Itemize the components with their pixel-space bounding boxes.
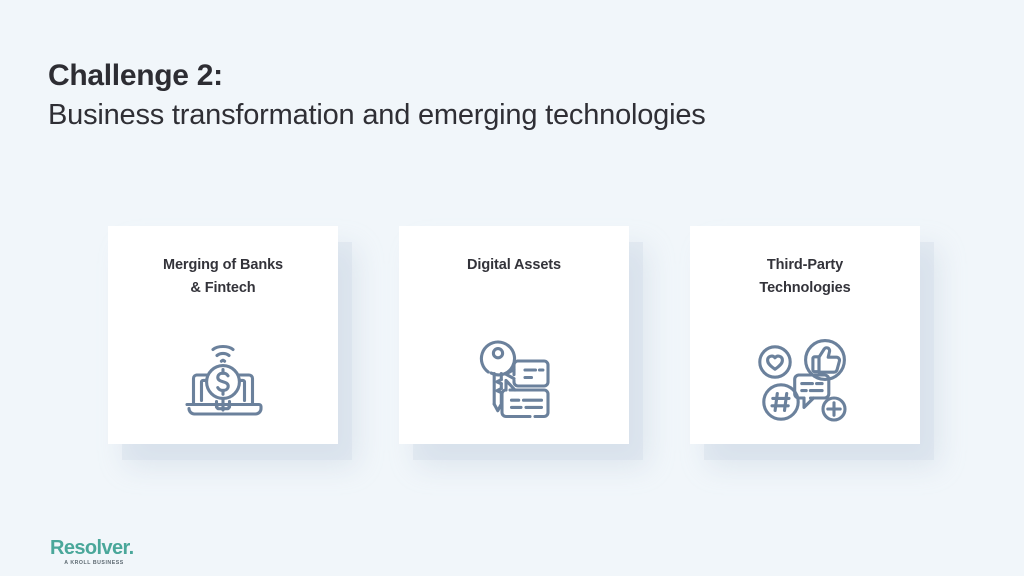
card-title: Digital Assets bbox=[399, 254, 629, 277]
card-title-line1: Third-Party bbox=[708, 254, 902, 277]
card-title-line2: & Fintech bbox=[126, 277, 320, 300]
card-title: Third-Party Technologies bbox=[690, 254, 920, 301]
page-title-line2: Business transformation and emerging tec… bbox=[48, 97, 928, 134]
card-third-party-technologies[interactable]: Third-Party Technologies bbox=[690, 226, 920, 444]
key-chat-bubbles-icon bbox=[399, 322, 629, 426]
card-title: Merging of Banks & Fintech bbox=[108, 254, 338, 301]
card-title-line1: Digital Assets bbox=[417, 254, 611, 277]
social-engagement-icons bbox=[690, 322, 920, 426]
card-digital-assets[interactable]: Digital Assets bbox=[399, 226, 629, 444]
resolver-tagline: A KROLL BUSINESS bbox=[50, 560, 138, 566]
resolver-logo: Resolver. A KROLL BUSINESS bbox=[50, 538, 180, 566]
feature-card-row: Merging of Banks & Fintech bbox=[108, 226, 920, 444]
card-title-line2: Technologies bbox=[708, 277, 902, 300]
resolver-wordmark: Resolver. bbox=[50, 538, 180, 558]
card-title-line1: Merging of Banks bbox=[126, 254, 320, 277]
page-title-line1: Challenge 2: bbox=[48, 57, 928, 95]
card-merging-of-banks-fintech[interactable]: Merging of Banks & Fintech bbox=[108, 226, 338, 444]
page-title: Challenge 2: Business transformation and… bbox=[48, 57, 928, 135]
laptop-dollar-wifi-icon bbox=[108, 322, 338, 426]
